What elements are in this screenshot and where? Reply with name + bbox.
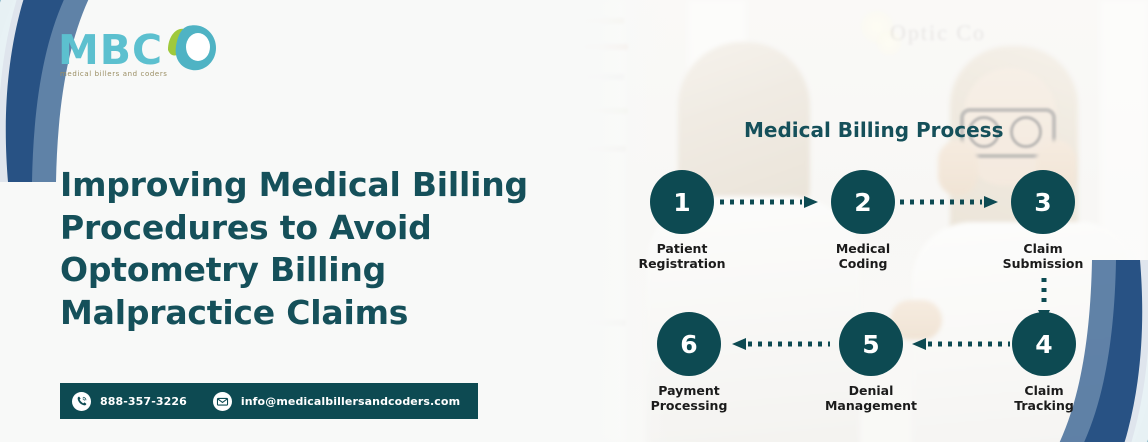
step-2-label-line1: Medical xyxy=(793,241,933,256)
process-step-2[interactable]: 2 Medical Coding xyxy=(793,170,933,272)
step-6-number: 6 xyxy=(680,330,697,359)
step-4-number: 4 xyxy=(1035,330,1052,359)
step-1-label-line1: Patient xyxy=(612,241,752,256)
process-step-1[interactable]: 1 Patient Registration xyxy=(612,170,752,272)
step-3-number: 3 xyxy=(1034,188,1051,217)
step-1-label-line2: Registration xyxy=(612,256,752,271)
step-3-label-line1: Claim xyxy=(973,241,1113,256)
step-3-label: Claim Submission xyxy=(973,241,1113,272)
logo-wordmark: MBC xyxy=(58,26,163,74)
process-step-6[interactable]: 6 Payment Processing xyxy=(619,312,759,414)
step-5-label-line1: Denial xyxy=(801,383,941,398)
process-step-5[interactable]: 5 Denial Management xyxy=(801,312,941,414)
step-6-circle: 6 xyxy=(657,312,721,376)
step-6-label-line2: Processing xyxy=(619,398,759,413)
process-title: Medical Billing Process xyxy=(744,118,1003,142)
contact-phone[interactable]: 888-357-3226 xyxy=(72,392,187,411)
step-6-label: Payment Processing xyxy=(619,383,759,414)
step-5-circle: 5 xyxy=(839,312,903,376)
step-2-label-line2: Coding xyxy=(793,256,933,271)
step-2-number: 2 xyxy=(854,188,871,217)
step-2-label: Medical Coding xyxy=(793,241,933,272)
step-4-circle: 4 xyxy=(1012,312,1076,376)
process-step-4[interactable]: 4 Claim Tracking xyxy=(974,312,1114,414)
step-3-label-line2: Submission xyxy=(973,256,1113,271)
step-3-circle: 3 xyxy=(1011,170,1075,234)
phone-call-icon xyxy=(72,392,91,411)
promotional-banner: Optic Co MBC m xyxy=(0,0,1148,442)
step-2-circle: 2 xyxy=(831,170,895,234)
step-1-label: Patient Registration xyxy=(612,241,752,272)
phone-number: 888-357-3226 xyxy=(100,395,187,408)
process-step-3[interactable]: 3 Claim Submission xyxy=(973,170,1113,272)
step-4-label-line2: Tracking xyxy=(974,398,1114,413)
brand-logo[interactable]: MBC medical billers and coders xyxy=(58,20,218,88)
step-6-label-line1: Payment xyxy=(619,383,759,398)
step-4-label: Claim Tracking xyxy=(974,383,1114,414)
contact-bar: 888-357-3226 info@medicalbillersandcoder… xyxy=(60,383,478,419)
step-5-number: 5 xyxy=(862,330,879,359)
step-4-label-line1: Claim xyxy=(974,383,1114,398)
step-1-circle: 1 xyxy=(650,170,714,234)
step-1-number: 1 xyxy=(673,188,690,217)
contact-email[interactable]: info@medicalbillersandcoders.com xyxy=(213,392,460,411)
eye-lens-icon xyxy=(158,20,220,81)
email-address: info@medicalbillersandcoders.com xyxy=(241,395,460,408)
page-title: Improving Medical Billing Procedures to … xyxy=(60,164,590,334)
envelope-icon xyxy=(213,392,232,411)
step-5-label: Denial Management xyxy=(801,383,941,414)
step-5-label-line2: Management xyxy=(801,398,941,413)
logo-tagline: medical billers and coders xyxy=(60,70,168,78)
